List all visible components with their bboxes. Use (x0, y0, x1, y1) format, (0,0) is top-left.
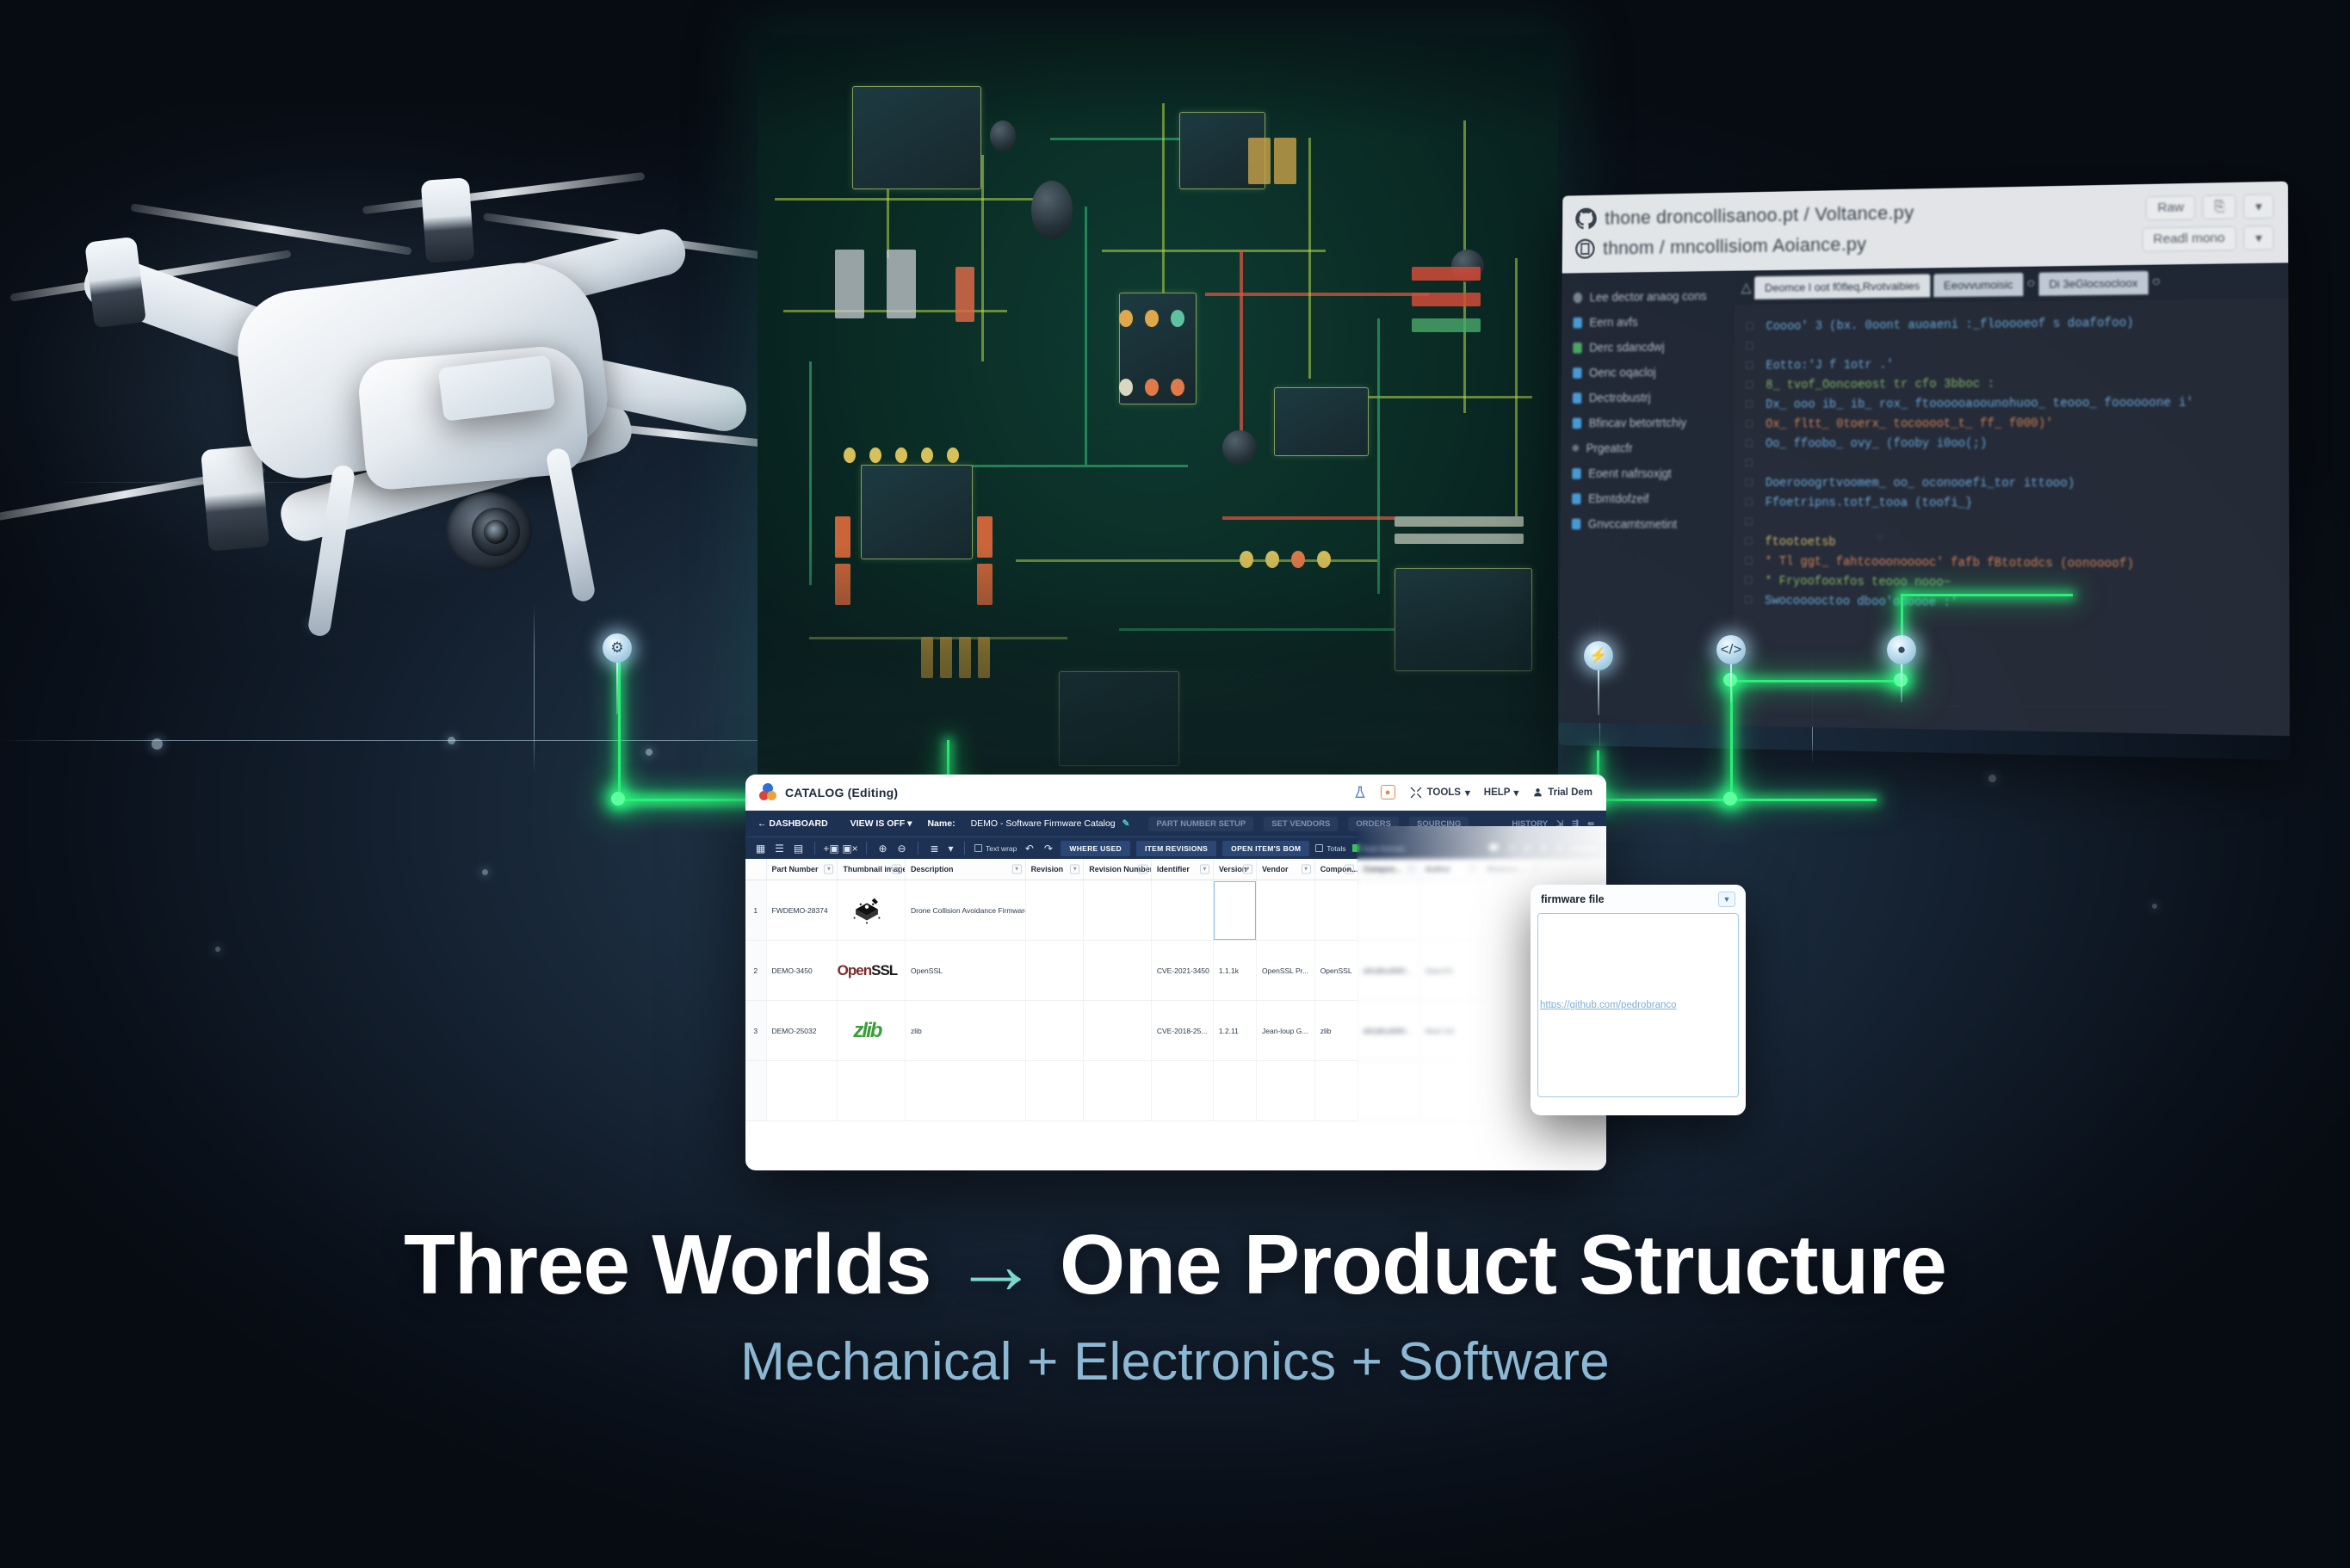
file-tree-label: Prgeatcfr (1586, 441, 1633, 455)
help-menu[interactable]: HELP ▾ (1484, 787, 1518, 799)
firmware-file-popup[interactable]: firmware file ▼ https://github.com/pedro… (1531, 885, 1746, 1115)
repo-icon (1575, 238, 1595, 259)
cell-version[interactable]: 1.1.1k (1213, 941, 1256, 1001)
folder-icon (1572, 518, 1581, 529)
cell-revision[interactable] (1025, 1001, 1084, 1061)
github-icon (1575, 207, 1597, 230)
cell-identifier[interactable] (1151, 880, 1213, 941)
catalog-title-bar: CATALOG (Editing) ● TOOLS ▾ HELP ▾ Trial… (745, 775, 1606, 811)
code-line: * Tl ggt_ fahtcooonooooc' fafb fBtotodcs… (1765, 553, 2134, 575)
file-tree-label: Gnvccamtsmetint (1588, 517, 1677, 531)
cell-revision-number[interactable] (1084, 941, 1152, 1001)
slide-headline: Three Worlds → One Product Structure Mec… (0, 1220, 2350, 1392)
cell-component-1[interactable]: OpenSSL (1314, 941, 1357, 1001)
more-options-button[interactable]: ▾ (2243, 194, 2273, 219)
firmware-chip-icon (843, 888, 891, 933)
code-line: Doerooogrtvoomem_ oo_ oconooefi_tor itto… (1766, 474, 2075, 494)
editor-tab[interactable]: Eeovvumoisic (1933, 272, 2023, 296)
item-count-label: 6 items (1571, 844, 1598, 853)
cell-component-1[interactable] (1314, 880, 1357, 941)
folder-icon (1573, 317, 1581, 328)
file-tree-item[interactable]: Ebmtdofzeif (1561, 486, 1734, 512)
where-used-button[interactable]: WHERE USED (1061, 841, 1130, 856)
col-header-relation[interactable]: Relation...▾ (1481, 859, 1543, 880)
share-icon[interactable]: ⇚ (1587, 819, 1594, 829)
circle-icon: ○ (2027, 276, 2036, 292)
cell-version[interactable]: 1.2.11 (1213, 1001, 1256, 1061)
cell-author[interactable]: Mark Adl (1419, 1001, 1481, 1061)
file-tree-label: Bfincav betortrtchiy (1589, 416, 1687, 429)
column-filter-icon[interactable]: ▾ (1070, 865, 1079, 874)
catalog-data-table[interactable]: Part Number▾ Thumbnail image▾ Descriptio… (745, 859, 1606, 1121)
software-repository-panel: thone droncollisanoo.pt / Voltance.py Ra… (1559, 182, 2290, 760)
chevron-down-icon[interactable]: ▼ (1718, 892, 1735, 907)
table-header-row: Part Number▾ Thumbnail image▾ Descriptio… (745, 859, 1606, 880)
firmware-file-link[interactable]: https://github.com/pedrobranco (1540, 1000, 1736, 1010)
catalog-nav-bar: ← DASHBOARD VIEW IS OFF ▾ Name: DEMO - S… (745, 811, 1606, 836)
branch-icon (1574, 292, 1582, 303)
table-row[interactable]: 2 DEMO-3450 OpenSSL OpenSSL CVE-2021-345… (745, 941, 1606, 1001)
col-header-component-2[interactable]: Compon...▾ (1357, 859, 1419, 880)
cell-identifier[interactable]: CVE-2021-3450 (1151, 941, 1213, 1001)
firmware-popup-title: firmware file (1541, 893, 1605, 905)
column-filter-icon[interactable]: ▾ (824, 865, 833, 874)
warning-icon: △ (1741, 279, 1752, 296)
folder-icon (1573, 392, 1581, 404)
chevron-down-icon: ▾ (1465, 787, 1470, 799)
editor-tab[interactable]: Deomce I oot f0fleq,Rvotvaibies (1754, 274, 1930, 299)
column-filter-icon[interactable]: ▾ (1407, 865, 1416, 874)
file-tree-item[interactable]: Eoent nafrsoxjgt (1561, 460, 1734, 486)
code-line: Eotto:'J f 1otr .' (1766, 355, 1893, 376)
presentation-slide: thone droncollisanoo.pt / Voltance.py Ra… (0, 0, 2350, 1568)
file-tree-item[interactable]: Eern avfs (1562, 308, 1735, 335)
item-revisions-button[interactable]: ITEM REVISIONS (1136, 841, 1216, 856)
totals-toggle[interactable]: Totals (1315, 844, 1345, 853)
back-to-dashboard-button[interactable]: ← DASHBOARD (758, 818, 828, 829)
cell-identifier[interactable]: CVE-2018-25... (1151, 1001, 1213, 1061)
grid-view-icon[interactable]: ▦ (754, 843, 767, 855)
code-lines: □Coooo' 3 (bx. 0oont auoaeni :_flooooeof… (1733, 298, 2289, 631)
checkbox-icon (1315, 844, 1323, 852)
row-number: 3 (745, 1001, 766, 1061)
comment-icon[interactable]: 💬 (1487, 843, 1500, 854)
column-view-icon[interactable]: ▤ (792, 843, 805, 855)
open-items-bom-button[interactable]: OPEN ITEM'S BOM (1222, 841, 1309, 856)
table-row[interactable]: 3 DEMO-25032 zlib zlib CVE-2018-25... 1.… (745, 1001, 1606, 1061)
clock-icon[interactable]: ◷ (1507, 843, 1516, 854)
circle-icon: ○ (2152, 275, 2161, 290)
nav-tab-part-number-setup[interactable]: PART NUMBER SETUP (1148, 817, 1253, 831)
firmware-popup-header: firmware file ▼ (1531, 885, 1746, 913)
swap-icon[interactable]: ⇄ (1524, 843, 1531, 854)
firmware-popup-body[interactable]: https://github.com/pedrobranco (1537, 913, 1739, 1097)
nav-tab-orders[interactable]: ORDERS (1348, 817, 1399, 831)
totals-label: Totals (1327, 844, 1345, 853)
cell-revision-number[interactable] (1084, 880, 1152, 941)
nav-tab-sourcing[interactable]: SOURCING (1409, 817, 1469, 831)
sort-icon[interactable]: ≣ (928, 843, 941, 855)
cell-revision[interactable] (1025, 941, 1084, 1001)
tools-menu[interactable]: TOOLS ▾ (1409, 786, 1470, 799)
headline-part-2: One Product Structure (1060, 1217, 1946, 1312)
catalog-title: CATALOG (Editing) (785, 786, 898, 799)
col-header-thumbnail[interactable]: Thumbnail image▾ (838, 859, 906, 880)
table-row-empty[interactable] (745, 1061, 1606, 1121)
zoom-out-icon[interactable]: ⊖ (895, 843, 908, 855)
delete-row-icon[interactable]: ▣× (844, 843, 857, 855)
redo-icon[interactable]: ↷ (1042, 843, 1054, 855)
code-line: Ffoetripns.totf_tooa (toofi_} (1766, 494, 1973, 515)
column-filter-icon[interactable]: ▾ (1243, 865, 1252, 874)
chevron-down-icon: ▾ (1513, 787, 1518, 799)
undo-icon[interactable]: ↶ (1023, 843, 1036, 855)
drone-render (0, 103, 775, 654)
file-tree-label: Lee dector anaog cons (1590, 289, 1707, 304)
cell-description[interactable]: Drone Collision Avoidance Firmware (905, 880, 1025, 941)
openssl-logo: OpenSSL (843, 948, 891, 993)
col-header-extra (1543, 859, 1605, 880)
nav-tab-set-vendors[interactable]: SET VENDORS (1264, 817, 1338, 831)
code-line: Swocooooctoo dboo'odoooe :' (1765, 592, 1957, 614)
file-tree-label: Ebmtdofzeif (1588, 491, 1649, 505)
pcb-circuit-board-render (758, 34, 1558, 787)
file-tree-label: Oenc oqacloj (1589, 366, 1656, 380)
help-label: HELP (1484, 787, 1511, 798)
cell-component-2[interactable] (1357, 880, 1419, 941)
cell-thumbnail[interactable] (838, 880, 906, 941)
headline-primary: Three Worlds → One Product Structure (0, 1220, 2350, 1309)
column-filter-icon[interactable]: ▾ (1200, 865, 1209, 874)
file-tree-item[interactable]: Dectrobustrj (1562, 384, 1735, 410)
col-header-vendor[interactable]: Vendor▾ (1257, 859, 1315, 880)
user-label: Trial Dem (1548, 787, 1592, 798)
tree-view-icon[interactable]: ☰ (773, 843, 786, 855)
user-icon (1532, 787, 1543, 798)
import-icon[interactable]: ⇲ (1556, 819, 1563, 829)
col-header-component-1[interactable]: Compon...▾ (1314, 859, 1357, 880)
file-tree-item[interactable]: Oenc oqacloj (1562, 359, 1735, 386)
notification-icon[interactable]: ● (1381, 785, 1395, 799)
raw-button[interactable]: Raw (2146, 195, 2196, 220)
cell-component-1[interactable]: zlib (1314, 1001, 1357, 1061)
edit-pencil-icon[interactable]: ✎ (1122, 818, 1130, 829)
ide-body: Lee dector anaog cons Eern avfs Derc sda… (1559, 262, 2290, 736)
column-filter-icon[interactable]: ▾ (1012, 865, 1022, 874)
app-logo-icon (759, 783, 776, 802)
folder-icon (1572, 493, 1581, 504)
history-label[interactable]: HISTORY (1512, 819, 1548, 829)
file-tree-root[interactable]: Lee dector anaog cons (1562, 283, 1735, 311)
repo-breadcrumb-line1: thone droncollisanoo.pt / Voltance.py (1605, 201, 1914, 229)
file-tree-sidebar[interactable]: Lee dector anaog cons Eern avfs Derc sda… (1559, 271, 1735, 725)
zlib-logo: zlib (843, 1009, 891, 1053)
col-header-version[interactable]: Version▾ (1213, 859, 1256, 880)
folder-icon (1573, 367, 1581, 379)
checkbox-icon (974, 844, 982, 852)
code-line: * Fryoofooxfos teooo nooo~ (1765, 572, 1951, 594)
code-line: Oo_ ffoobo_ ovy_ (fooby i0oo(;) (1766, 435, 1988, 454)
dashboard-label: DASHBOARD (769, 818, 827, 829)
file-tree-label: Derc sdancdwj (1589, 340, 1665, 354)
auto-formula-toggle[interactable]: Auto formula (1352, 844, 1405, 853)
dropdown-caret-button[interactable]: ▾ (2244, 225, 2274, 250)
row-number: 2 (745, 941, 766, 1001)
cell-part-number[interactable]: FWDEMO-28374 (766, 880, 838, 941)
col-header-revision-number[interactable]: Revision Number▾ (1084, 859, 1152, 880)
cell-vendor[interactable]: Jean-loup G... (1257, 1001, 1315, 1061)
name-label: Name: (927, 818, 955, 829)
cell-component-2[interactable]: d41d8cd98f0... (1357, 1001, 1419, 1061)
column-filter-icon[interactable]: ▾ (892, 865, 901, 874)
tools-label: TOOLS (1427, 787, 1461, 798)
row-number-header (745, 859, 766, 880)
cell-vendor[interactable]: OpenSSL Pr... (1257, 941, 1315, 1001)
file-tree-item[interactable]: Gnvccamtsmetint (1561, 511, 1734, 537)
code-viewer: △ Deomce I oot f0fleq,Rvotvaibies Eeovvu… (1733, 262, 2290, 736)
column-filter-icon[interactable]: ▾ (1531, 865, 1540, 874)
cell-revision[interactable] (1025, 880, 1084, 941)
auto-formula-label: Auto formula (1364, 844, 1405, 853)
wrench-icon (1409, 786, 1423, 799)
filter-icon[interactable]: ▼ (1539, 843, 1549, 854)
code-line: 8_ tvof_Ooncoeost tr cfo 3bboc : (1766, 375, 1994, 396)
catalog-toolbar: ▦ ☰ ▤ +▣ ▣× ⊕ ⊖ ≣ ▾ Text wrap ↶ ↷ WHERE … (745, 836, 1606, 859)
col-header-author[interactable]: Author▾ (1419, 859, 1481, 880)
cell-vendor[interactable] (1257, 880, 1315, 941)
column-filter-icon[interactable]: ▾ (1345, 865, 1354, 874)
cell-thumbnail[interactable]: OpenSSL (838, 941, 906, 1001)
add-row-icon[interactable]: +▣ (825, 843, 838, 855)
cell-author[interactable]: OpenSS (1419, 941, 1481, 1001)
text-wrap-toggle[interactable]: Text wrap (974, 844, 1017, 853)
file-tree-label: Eern avfs (1589, 315, 1637, 329)
cell-part-number[interactable]: DEMO-3450 (766, 941, 838, 1001)
folder-icon (1572, 468, 1581, 479)
column-filter-icon[interactable]: ▾ (1138, 865, 1147, 874)
col-header-part-number[interactable]: Part Number▾ (766, 859, 838, 880)
file-tree-item[interactable]: Prgeatcfr (1561, 435, 1734, 461)
file-tree-item[interactable]: Bfincav betortrtchiy (1561, 410, 1734, 435)
code-line: Ox_ fltt_ 0toerx_ tocoooot_t_ ff_ f000)' (1766, 414, 2053, 435)
dot-icon (1572, 445, 1579, 452)
row-number: 1 (745, 880, 766, 941)
cell-version-selected[interactable] (1213, 880, 1256, 941)
view-state-label: VIEW IS OFF (850, 818, 906, 829)
column-filter-icon[interactable]: ▾ (1302, 865, 1311, 874)
cell-description[interactable]: zlib (905, 1001, 1025, 1061)
repo-breadcrumb-line2: thnom / mncollisiom Aoiance.py (1603, 233, 1866, 259)
export-icon[interactable]: ⇶ (1572, 819, 1579, 829)
flask-icon[interactable] (1353, 786, 1367, 799)
user-menu[interactable]: Trial Dem (1532, 787, 1592, 798)
cell-component-2[interactable]: d41d8cd98f0... (1357, 941, 1419, 1001)
zoom-in-icon[interactable]: ⊕ (876, 843, 889, 855)
col-header-revision[interactable]: Revision▾ (1025, 859, 1084, 880)
catalog-app-window[interactable]: CATALOG (Editing) ● TOOLS ▾ HELP ▾ Trial… (745, 775, 1606, 1170)
copy-icon-button[interactable]: ⎘ (2203, 194, 2236, 219)
headline-subtitle: Mechanical + Electronics + Software (0, 1331, 2350, 1392)
folder-icon (1573, 342, 1581, 353)
arrow-icon: → (954, 1217, 1037, 1312)
cell-thumbnail[interactable]: zlib (838, 1001, 906, 1061)
search-icon[interactable]: ⚲ (1556, 843, 1563, 854)
folder-icon (1573, 417, 1581, 429)
view-state-toggle[interactable]: VIEW IS OFF ▾ (850, 818, 912, 829)
chevron-down-icon[interactable]: ▾ (947, 843, 955, 855)
col-header-identifier[interactable]: Identifier▾ (1151, 859, 1213, 880)
file-tree-label: Eoent nafrsoxjgt (1588, 466, 1672, 480)
catalog-name-value: DEMO - Software Firmware Catalog (971, 818, 1116, 829)
editor-tab[interactable]: Di 3eGlocsocloox (2038, 270, 2148, 295)
cell-revision-number[interactable] (1084, 1001, 1152, 1061)
checkbox-checked-icon (1352, 844, 1360, 852)
file-tree-label: Dectrobustrj (1589, 391, 1651, 404)
repo-header: thone droncollisanoo.pt / Voltance.py Ra… (1562, 182, 2289, 274)
text-wrap-label: Text wrap (986, 844, 1017, 853)
code-line: ftootoetsb (1765, 533, 1835, 553)
column-filter-icon[interactable]: ▾ (1469, 865, 1478, 874)
cell-description[interactable]: OpenSSL (905, 941, 1025, 1001)
headline-part-1: Three Worlds (404, 1217, 931, 1312)
cell-author[interactable] (1419, 880, 1481, 941)
file-tree-item[interactable]: Derc sdancdwj (1562, 333, 1735, 360)
cell-part-number[interactable]: DEMO-25032 (766, 1001, 838, 1061)
read-mode-button[interactable]: Readl mono (2142, 226, 2236, 252)
code-line: Dx_ ooo ib_ ib_ rox_ ftoooooaoounohuoo_ … (1766, 393, 2193, 415)
col-header-description[interactable]: Description▾ (905, 859, 1025, 880)
table-row[interactable]: 1 FWDEMO-28374 (745, 880, 1606, 941)
